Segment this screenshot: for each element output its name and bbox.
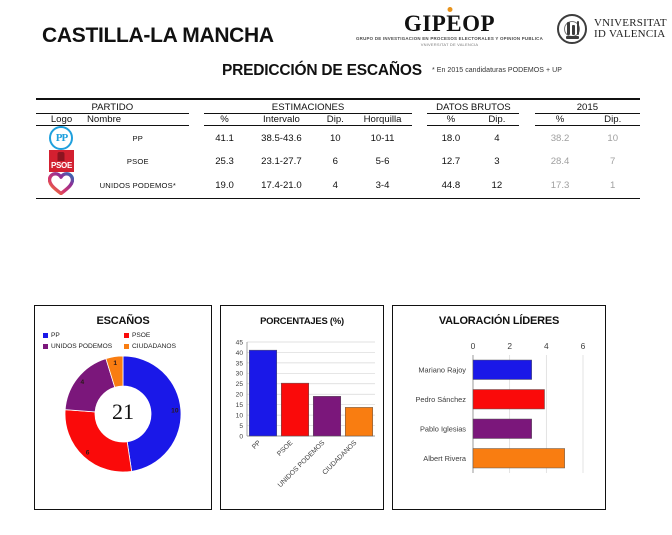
gipeyop-subtitle-1: GRUPO DE INVESTIGACION EN PROCESOS ELECT…	[356, 37, 543, 41]
sub-gap-3	[519, 114, 534, 126]
table-row: PSOE PSOE 25.3 23.1-27.7 6 5-6 12.7 3 28…	[36, 150, 640, 172]
column-header-raw-dip: Dip.	[474, 114, 519, 126]
cell-2015-dip: 1	[585, 172, 640, 199]
cell-raw-dip: 3	[474, 150, 519, 172]
cell-est-interval: 23.1-27.7	[245, 150, 318, 172]
svg-text:Pedro Sánchez: Pedro Sánchez	[415, 395, 466, 404]
seats-chart-title: ESCAÑOS	[35, 306, 211, 327]
prediction-header: PREDICCIÓN DE ESCAÑOS * En 2015 candidat…	[0, 62, 672, 86]
svg-text:4: 4	[544, 341, 549, 351]
legend-item-psoe: PSOE	[124, 332, 205, 339]
charts-panel-row: ESCAÑOS PP PSOE UNIDOS PODEMOS CIUDADANO…	[34, 305, 614, 510]
leaders-chart-area: 0246Mariano RajoyPedro SánchezPablo Igle…	[393, 327, 605, 499]
cell-est-pct: 41.1	[204, 126, 245, 151]
page-header: CASTILLA-LA MANCHA GIPEOP GRUPO DE INVES…	[0, 0, 672, 62]
legend-swatch-psoe	[124, 333, 129, 338]
table-bottom-rule	[36, 199, 640, 200]
row-gap-3	[519, 150, 534, 172]
cell-est-pct: 19.0	[204, 172, 245, 199]
column-header-2015-pct: %	[535, 114, 586, 126]
legend-item-ciudadanos: CIUDADANOS	[124, 343, 205, 350]
legend-swatch-pp	[43, 333, 48, 338]
column-header-2015-dip: Dip.	[585, 114, 640, 126]
university-seal-icon	[557, 14, 587, 44]
cell-2015-pct: 17.3	[535, 172, 586, 199]
svg-text:45: 45	[236, 339, 244, 346]
cell-raw-pct: 44.8	[427, 172, 474, 199]
gipeyop-logo: GIPEOP GRUPO DE INVESTIGACION EN PROCESO…	[356, 12, 543, 47]
svg-text:25: 25	[236, 381, 244, 388]
svg-text:40: 40	[236, 350, 244, 357]
leaders-bar-chart: 0246Mariano RajoyPedro SánchezPablo Igle…	[393, 331, 604, 499]
legend-label-ciudadanos: CIUDADANOS	[132, 343, 176, 350]
prediction-footnote: * En 2015 candidaturas PODEMOS + UP	[432, 67, 562, 74]
seats-donut-area: 10641 21	[35, 350, 211, 478]
pp-logo-icon: PP	[49, 126, 73, 150]
legend-item-unidos-podemos: UNIDOS PODEMOS	[43, 343, 124, 350]
svg-text:Pablo Iglesias: Pablo Iglesias	[420, 425, 466, 434]
column-header-raw-pct: %	[427, 114, 474, 126]
svg-text:4: 4	[81, 379, 85, 386]
column-header-intervalo: Intervalo	[245, 114, 318, 126]
svg-text:6: 6	[581, 341, 586, 351]
results-table-container: PARTIDO ESTIMACIONES DATOS BRUTOS 2015 L…	[36, 98, 640, 199]
universitat-valencia-logo: VNIVERSITAT ID VALENCIA	[557, 14, 667, 44]
row-gap-1	[189, 126, 204, 151]
svg-text:5: 5	[239, 423, 243, 430]
svg-text:0: 0	[239, 433, 243, 440]
cell-est-pct: 25.3	[204, 150, 245, 172]
svg-text:PSOE: PSOE	[276, 439, 295, 458]
table-row: PP PP 41.1 38.5-43.6 10 10-11 18.0 4 38.…	[36, 126, 640, 151]
sub-gap-1	[189, 114, 204, 126]
legend-swatch-unidos-podemos	[43, 344, 48, 349]
leaders-rating-panel: VALORACIÓN LÍDERES 0246Mariano RajoyPedr…	[392, 305, 606, 510]
cell-est-interval: 38.5-43.6	[245, 126, 318, 151]
seats-donut-panel: ESCAÑOS PP PSOE UNIDOS PODEMOS CIUDADANO…	[34, 305, 212, 510]
cell-est-interval: 17.4-21.0	[245, 172, 318, 199]
group-header-partido: PARTIDO	[36, 102, 189, 114]
svg-text:10: 10	[171, 408, 179, 415]
row-gap-3	[519, 172, 534, 199]
group-header-datos-brutos: DATOS BRUTOS	[427, 102, 519, 114]
party-name: PP	[87, 126, 189, 151]
cell-raw-pct: 12.7	[427, 150, 474, 172]
row-gap-1	[189, 172, 204, 199]
legend-label-unidos-podemos: UNIDOS PODEMOS	[51, 343, 112, 350]
column-header-horquilla: Horquilla	[353, 114, 412, 126]
cell-2015-dip: 10	[585, 126, 640, 151]
gipeyop-wordmark-text: GIPEOP	[404, 11, 495, 36]
party-name: UNIDOS PODEMOS*	[87, 172, 189, 199]
percentages-bar-chart: 051015202530354045PPPSOEUNIDOS PODEMOSCI…	[221, 330, 382, 498]
svg-text:Albert Rivera: Albert Rivera	[423, 454, 467, 463]
column-header-logo: Logo	[36, 114, 87, 126]
psoe-logo-icon: PSOE	[49, 150, 74, 172]
row-gap-3	[519, 126, 534, 151]
svg-text:Mariano Rajoy: Mariano Rajoy	[418, 366, 466, 375]
percentages-chart-title: PORCENTAJES (%)	[221, 306, 383, 326]
cell-2015-pct: 38.2	[535, 126, 586, 151]
legend-item-pp: PP	[43, 332, 124, 339]
table-group-header-row: PARTIDO ESTIMACIONES DATOS BRUTOS 2015	[36, 102, 640, 114]
results-table: PARTIDO ESTIMACIONES DATOS BRUTOS 2015 L…	[36, 98, 640, 199]
svg-text:35: 35	[236, 360, 244, 367]
cell-raw-pct: 18.0	[427, 126, 474, 151]
table-row: UNIDOS PODEMOS* 19.0 17.4-21.0 4 3-4 44.…	[36, 172, 640, 199]
cell-raw-dip: 12	[474, 172, 519, 199]
svg-text:2: 2	[507, 341, 512, 351]
svg-text:0: 0	[471, 341, 476, 351]
group-gap-2	[412, 102, 427, 114]
legend-label-psoe: PSOE	[132, 332, 150, 339]
percentages-panel: PORCENTAJES (%) 051015202530354045PPPSOE…	[220, 305, 384, 510]
svg-text:30: 30	[236, 371, 244, 378]
group-gap-3	[519, 102, 534, 114]
legend-label-pp: PP	[51, 332, 60, 339]
svg-text:CIUDADANOS: CIUDADANOS	[321, 439, 358, 476]
university-name-line2: ID VALENCIA	[594, 29, 667, 41]
cell-est-horquilla: 3-4	[353, 172, 412, 199]
svg-text:1: 1	[113, 360, 117, 367]
gipeyop-subtitle-2: VNIVERSITAT DE VALENCIA	[356, 43, 543, 47]
cell-est-horquilla: 5-6	[353, 150, 412, 172]
party-logo-cell	[36, 172, 87, 199]
table-column-header-row: Logo Nombre % Intervalo Dip. Horquilla %…	[36, 114, 640, 126]
party-name: PSOE	[87, 150, 189, 172]
svg-text:6: 6	[86, 450, 90, 457]
row-gap-2	[412, 150, 427, 172]
group-gap-1	[189, 102, 204, 114]
seats-chart-legend: PP PSOE UNIDOS PODEMOS CIUDADANOS	[43, 332, 205, 350]
cell-raw-dip: 4	[474, 126, 519, 151]
page-title: CASTILLA-LA MANCHA	[42, 24, 274, 48]
party-logo-cell: PSOE	[36, 150, 87, 172]
svg-text:15: 15	[236, 402, 244, 409]
sub-gap-2	[412, 114, 427, 126]
column-header-est-pct: %	[204, 114, 245, 126]
branding: GIPEOP GRUPO DE INVESTIGACION EN PROCESO…	[356, 12, 667, 47]
seats-total-label: 21	[112, 399, 134, 425]
unidos-podemos-heart-icon	[48, 172, 74, 195]
cell-2015-pct: 28.4	[535, 150, 586, 172]
column-header-dip: Dip.	[318, 114, 353, 126]
group-header-estimaciones: ESTIMACIONES	[204, 102, 412, 114]
svg-text:20: 20	[236, 392, 244, 399]
prediction-title: PREDICCIÓN DE ESCAÑOS	[222, 62, 422, 80]
row-gap-2	[412, 172, 427, 199]
percentages-chart-area: 051015202530354045PPPSOEUNIDOS PODEMOSCI…	[221, 326, 383, 498]
gipeyop-wordmark: GIPEOP	[404, 12, 495, 35]
leaders-chart-title: VALORACIÓN LÍDERES	[393, 306, 605, 327]
cell-est-dip: 6	[318, 150, 353, 172]
column-header-nombre: Nombre	[87, 114, 189, 126]
row-gap-1	[189, 150, 204, 172]
university-name: VNIVERSITAT ID VALENCIA	[594, 18, 667, 42]
party-logo-cell: PP	[36, 126, 87, 151]
gipeyop-dot-icon	[447, 7, 452, 12]
psoe-logo-text: PSOE	[51, 162, 72, 172]
svg-text:10: 10	[236, 413, 244, 420]
group-header-2015: 2015	[535, 102, 640, 114]
cell-2015-dip: 7	[585, 150, 640, 172]
cell-est-dip: 4	[318, 172, 353, 199]
cell-est-dip: 10	[318, 126, 353, 151]
cell-est-horquilla: 10-11	[353, 126, 412, 151]
svg-text:PP: PP	[251, 439, 263, 451]
row-gap-2	[412, 126, 427, 151]
legend-swatch-ciudadanos	[124, 344, 129, 349]
